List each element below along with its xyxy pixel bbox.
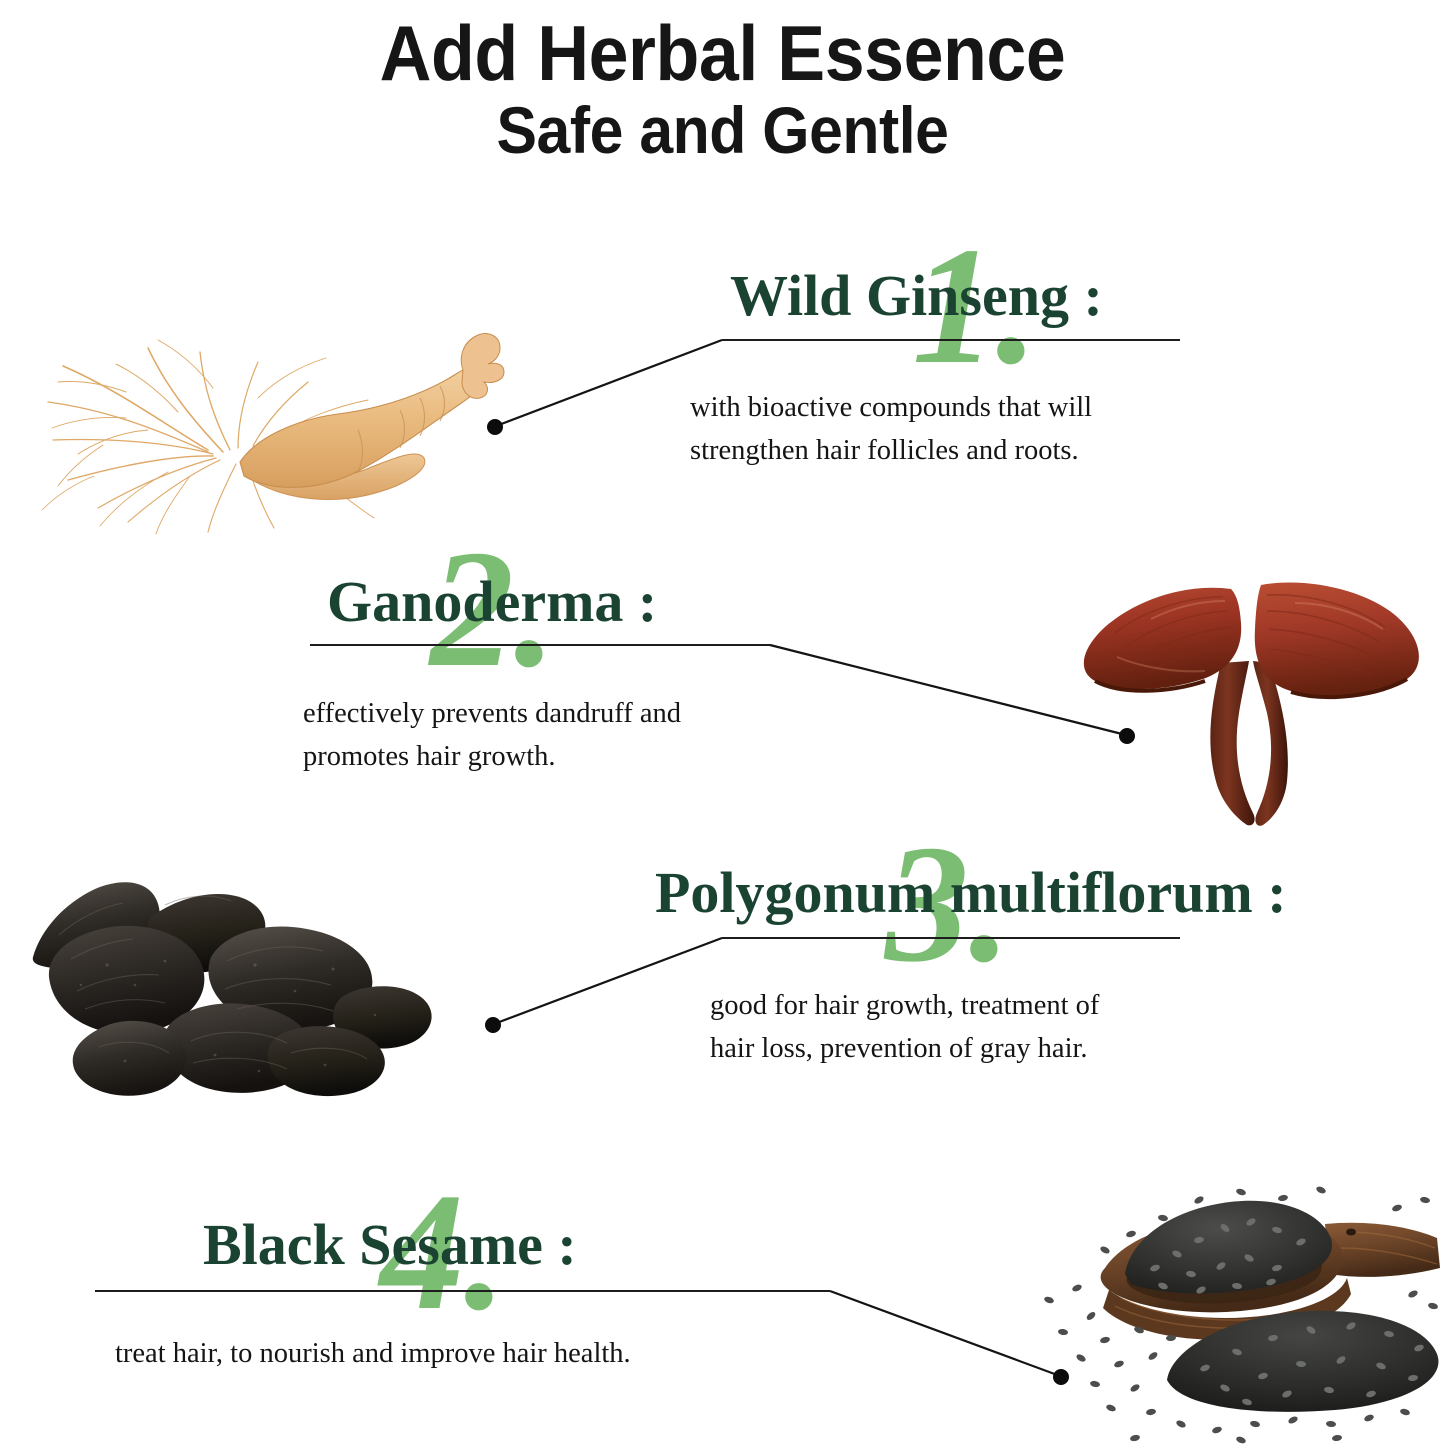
section-4-body-line-1: treat hair, to nourish and improve hair … — [115, 1332, 875, 1375]
section-3-leader-dot — [485, 1017, 501, 1033]
reishi-cap-right — [1255, 583, 1419, 696]
section-1-rule — [722, 339, 1180, 341]
section-1-body: with bioactive compounds that will stren… — [690, 386, 1220, 473]
section-3-leader-line — [478, 928, 738, 1038]
section-3-body-line-2: hair loss, prevention of gray hair. — [710, 1027, 1250, 1070]
sesame-scoop-handle — [1325, 1223, 1440, 1277]
title-line-2: Safe and Gentle — [58, 94, 1387, 168]
section-2-heading: Ganoderma : — [327, 573, 657, 631]
section-4-rule — [95, 1290, 830, 1292]
infographic-canvas: Add Herbal Essence Safe and Gentle — [0, 0, 1445, 1445]
section-3-body-line-1: good for hair growth, treatment of — [710, 984, 1250, 1027]
section-4-body: treat hair, to nourish and improve hair … — [115, 1332, 875, 1375]
section-1-body-line-1: with bioactive compounds that will — [690, 386, 1220, 429]
section-2-body: effectively prevents dandruff and promot… — [303, 692, 843, 779]
section-3-heading: Polygonum multiflorum : — [655, 864, 1287, 922]
page-title: Add Herbal Essence Safe and Gentle — [0, 14, 1445, 167]
section-2-body-line-2: promotes hair growth. — [303, 735, 843, 778]
polygonum-slice-front-left — [73, 1021, 187, 1096]
ginseng-main-body — [240, 366, 485, 488]
reishi-stem-hole — [1244, 743, 1266, 783]
section-3-rule — [722, 937, 1180, 939]
section-1-leader-dot — [487, 419, 503, 435]
polygonum-multiflorum-slices-image — [15, 865, 485, 1130]
section-4-heading: Black Sesame : — [203, 1216, 577, 1274]
section-2-body-line-1: effectively prevents dandruff and — [303, 692, 843, 735]
section-1-heading: Wild Ginseng : — [730, 267, 1103, 325]
sesame-scoop-hole — [1346, 1229, 1356, 1236]
wild-ginseng-root-image — [8, 270, 508, 535]
section-2-rule — [310, 644, 770, 646]
title-line-1: Add Herbal Essence — [58, 14, 1387, 94]
section-3-body: good for hair growth, treatment of hair … — [710, 984, 1250, 1071]
section-2-leader-dot — [1119, 728, 1135, 744]
section-1-body-line-2: strengthen hair follicles and roots. — [690, 429, 1220, 472]
section-4-leader-dot — [1053, 1369, 1069, 1385]
reishi-stem-left — [1210, 661, 1254, 825]
